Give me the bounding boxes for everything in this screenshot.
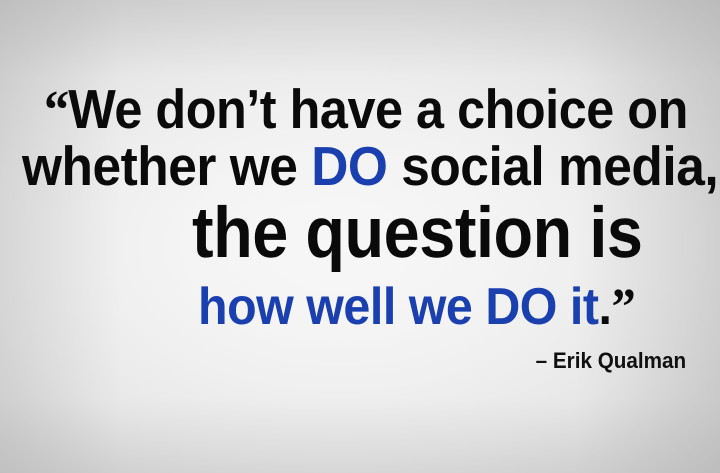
attribution: – Erik Qualman: [535, 350, 686, 372]
quote-line-2: whether we DO social media,: [22, 139, 718, 194]
opening-quote-mark: “: [44, 79, 68, 140]
quote-line-1: “We don’t have a choice on: [44, 82, 688, 137]
quote-line-3-text: the question is: [192, 193, 642, 273]
quote-line-4-text-after: it: [557, 278, 599, 336]
quote-line-2-text-after: social media,: [387, 135, 718, 197]
quote-line-3: the question is: [192, 197, 642, 269]
quote-line-2-emphasis-do: DO: [311, 135, 387, 197]
quote-line-2-text-before: whether we: [22, 135, 311, 197]
quote-line-4-period: .: [599, 278, 612, 336]
quote-text-block: “We don’t have a choice on whether we DO…: [0, 0, 720, 473]
closing-quote-mark: ”: [612, 279, 635, 336]
quote-line-4-emphasis-do: DO: [485, 278, 557, 336]
quote-graphic: “We don’t have a choice on whether we DO…: [0, 0, 720, 473]
quote-line-4-text-before: how well we: [198, 278, 485, 336]
quote-line-4: how well we DO it.”: [198, 281, 635, 334]
quote-line-1-text: We don’t have a choice on: [68, 78, 688, 140]
